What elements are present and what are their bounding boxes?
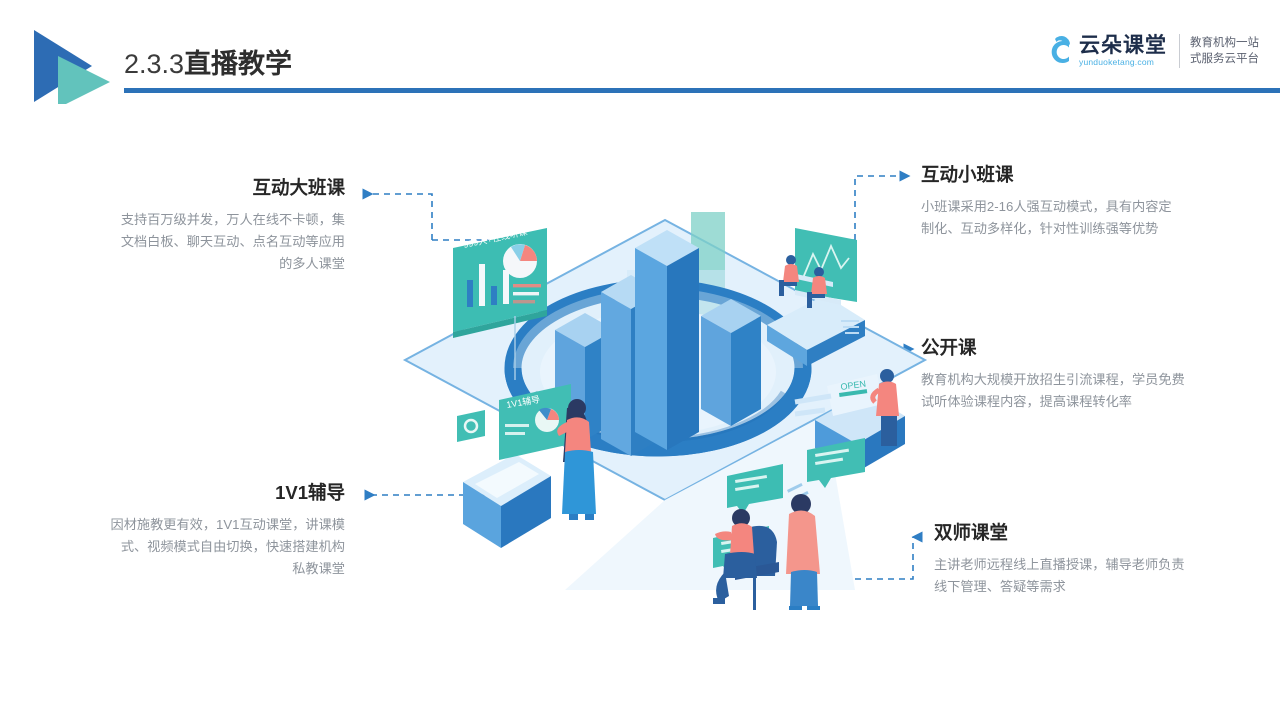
bar-column-4 bbox=[701, 299, 761, 426]
callout-big-class: 互动大班课 支持百万级并发，万人在线不卡顿，集文档白板、聊天互动、点名互动等应用… bbox=[110, 176, 345, 275]
callout-description: 小班课采用2-16人强互动模式，具有内容定制化、互动多样化，针对性训练强等优势 bbox=[921, 196, 1183, 240]
callout-small-class: 互动小班课 小班课采用2-16人强互动模式，具有内容定制化、互动多样化，针对性训… bbox=[921, 163, 1183, 240]
callout-title: 双师课堂 bbox=[934, 521, 1186, 545]
bar-column-3 bbox=[635, 230, 699, 450]
callout-title: 互动大班课 bbox=[110, 176, 345, 200]
live-teaching-isometric-illustration: 999人+在线听课 bbox=[395, 120, 935, 610]
callout-description: 因材施教更有效，1V1互动课堂，讲课模式、视频模式自由切换，快速搭建机构私教课堂 bbox=[110, 514, 345, 580]
callout-description: 支持百万级并发，万人在线不卡顿，集文档白板、聊天互动、点名互动等应用的多人课堂 bbox=[110, 209, 345, 275]
callout-title: 1V1辅导 bbox=[110, 481, 345, 505]
callout-one-on-one: 1V1辅导 因材施教更有效，1V1互动课堂，讲课模式、视频模式自由切换，快速搭建… bbox=[110, 481, 345, 580]
callout-title: 公开课 bbox=[921, 336, 1187, 360]
callout-description: 主讲老师远程线上直播授课，辅导老师负责线下管理、答疑等需求 bbox=[934, 554, 1186, 598]
one-on-one-scene: 1V1辅导 bbox=[457, 384, 596, 548]
callout-open-class: 公开课 教育机构大规模开放招生引流课程，学员免费试听体验课程内容，提高课程转化率 bbox=[921, 336, 1187, 413]
callout-title: 互动小班课 bbox=[921, 163, 1183, 187]
callout-dual-teacher: 双师课堂 主讲老师远程线上直播授课，辅导老师负责线下管理、答疑等需求 bbox=[934, 521, 1186, 598]
callout-description: 教育机构大规模开放招生引流课程，学员免费试听体验课程内容，提高课程转化率 bbox=[921, 369, 1187, 413]
